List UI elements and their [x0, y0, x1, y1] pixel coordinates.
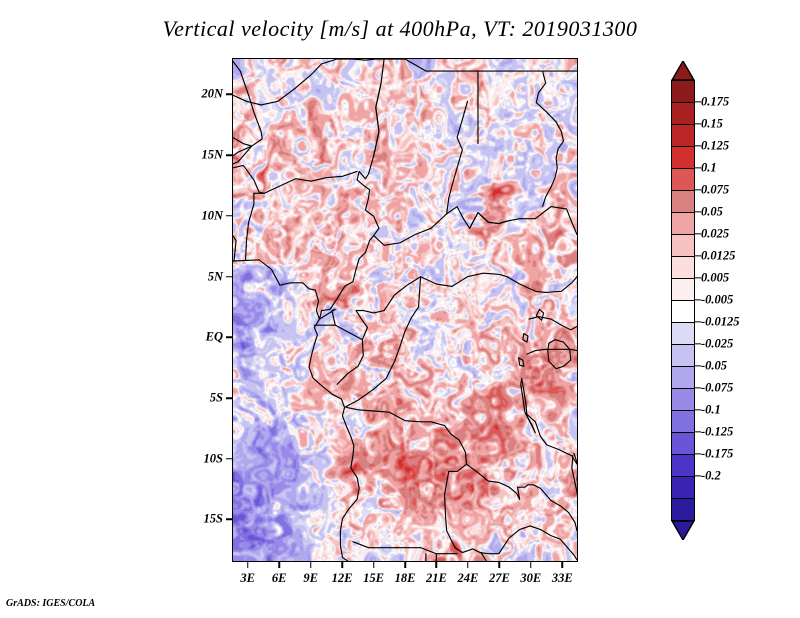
colorbar-swatch	[671, 432, 695, 455]
x-tick-label: 21E	[426, 571, 447, 586]
x-tick-mark	[310, 562, 312, 568]
colorbar-tick-label: 0.175	[701, 95, 729, 110]
colorbar-swatch	[671, 322, 695, 345]
colorbar-arrow-bottom	[671, 520, 695, 540]
colorbar-swatch	[671, 102, 695, 125]
x-tick-label: 3E	[240, 571, 255, 586]
page-title: Vertical velocity [m/s] at 400hPa, VT: 2…	[0, 16, 800, 42]
x-tick-label: 9E	[303, 571, 318, 586]
colorbar-swatch	[671, 190, 695, 213]
x-tick-mark	[499, 562, 501, 568]
colorbar-tick-label: 0.15	[701, 117, 723, 132]
x-tick-label: 12E	[332, 571, 353, 586]
y-tick-mark	[226, 215, 232, 217]
colorbar-swatch	[671, 212, 695, 235]
y-tick-mark	[226, 458, 232, 460]
x-tick-label: 30E	[520, 571, 541, 586]
colorbar-tick-label: -0.125	[701, 425, 733, 440]
y-tick-label: 10S	[204, 451, 223, 466]
colorbar-swatch	[671, 168, 695, 191]
colorbar-tick-label: -0.1	[701, 403, 721, 418]
x-tick-label: 33E	[552, 571, 573, 586]
x-tick-mark	[436, 562, 438, 568]
y-tick-label: 10N	[201, 208, 223, 223]
x-tick-mark	[247, 562, 249, 568]
colorbar-swatch	[671, 388, 695, 411]
y-tick-mark	[226, 276, 232, 278]
colorbar-tick-label: -0.2	[701, 469, 721, 484]
colorbar-tick-label: -0.005	[701, 293, 733, 308]
colorbar-tick-label: 0.1	[701, 161, 717, 176]
y-tick-label: 5N	[208, 269, 223, 284]
colorbar-swatch	[671, 498, 695, 521]
colorbar-tick-label: -0.0125	[701, 315, 740, 330]
colorbar-tick-label: 0.0125	[701, 249, 735, 264]
colorbar-swatch	[671, 124, 695, 147]
x-tick-mark	[373, 562, 375, 568]
colorbar-swatch	[671, 278, 695, 301]
colorbar-swatch	[671, 366, 695, 389]
colorbar-swatch	[671, 80, 695, 103]
colorbar-tick-label: 0.125	[701, 139, 729, 154]
x-tick-mark	[530, 562, 532, 568]
colorbar-swatch	[671, 256, 695, 279]
x-tick-label: 27E	[489, 571, 510, 586]
x-tick-label: 15E	[363, 571, 384, 586]
x-tick-mark	[278, 562, 280, 568]
y-tick-mark	[226, 337, 232, 339]
map-plot-area	[232, 58, 578, 562]
colorbar-arrow-top	[671, 61, 695, 81]
colorbar-swatch	[671, 476, 695, 499]
colorbar-swatch	[671, 146, 695, 169]
y-tick-mark	[226, 397, 232, 399]
colorbar-tick-label: -0.075	[701, 381, 733, 396]
colorbar-swatch	[671, 410, 695, 433]
y-tick-label: EQ	[206, 330, 223, 345]
y-tick-mark	[226, 519, 232, 521]
colorbar: 0.1750.150.1250.10.0750.050.0250.01250.0…	[671, 80, 695, 520]
y-tick-mark	[226, 154, 232, 156]
x-tick-mark	[467, 562, 469, 568]
colorbar-tick-label: 0.05	[701, 205, 723, 220]
x-tick-mark	[404, 562, 406, 568]
country-borders-overlay	[233, 59, 577, 561]
colorbar-tick-label: -0.175	[701, 447, 733, 462]
y-tick-label: 15S	[204, 512, 223, 527]
x-tick-label: 6E	[272, 571, 287, 586]
x-tick-mark	[562, 562, 564, 568]
colorbar-swatch	[671, 234, 695, 257]
x-tick-mark	[341, 562, 343, 568]
y-tick-mark	[226, 94, 232, 96]
colorbar-tick-label: 0.075	[701, 183, 729, 198]
y-tick-label: 5S	[210, 391, 223, 406]
colorbar-swatch	[671, 344, 695, 367]
colorbar-tick-label: -0.025	[701, 337, 733, 352]
colorbar-swatch	[671, 300, 695, 323]
y-tick-label: 20N	[201, 87, 223, 102]
footer-credit: GrADS: IGES/COLA	[6, 598, 95, 609]
x-tick-label: 18E	[395, 571, 416, 586]
colorbar-tick-label: 0.005	[701, 271, 729, 286]
colorbar-tick-label: -0.05	[701, 359, 727, 374]
colorbar-tick-label: 0.025	[701, 227, 729, 242]
colorbar-swatch	[671, 454, 695, 477]
y-tick-label: 15N	[201, 148, 223, 163]
x-tick-label: 24E	[457, 571, 478, 586]
